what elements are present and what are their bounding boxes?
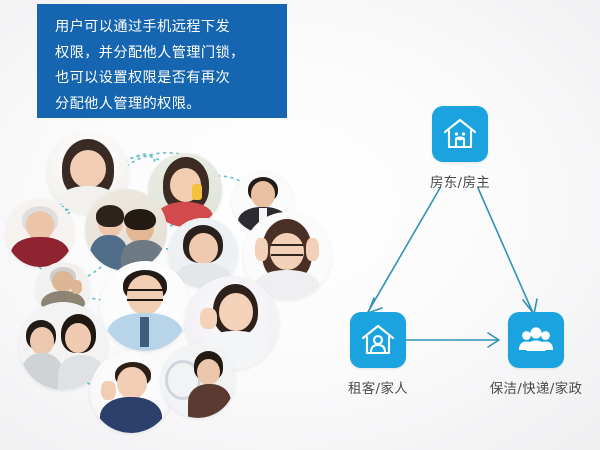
portrait-father-and-son: [85, 189, 167, 271]
social-network-collage: [0, 118, 330, 450]
house-person-icon: [358, 320, 398, 360]
landlord-tile[interactable]: [432, 106, 488, 162]
caption-box: 用户可以通过手机远程下发 权限，并分配他人管理门锁， 也可以设置权限是否有再次 …: [37, 4, 287, 118]
arrow-landlord-to-tenant-line: [368, 188, 440, 312]
tenant-tile[interactable]: [350, 312, 406, 368]
arrow-landlord-to-service-line: [478, 188, 533, 313]
infographic-canvas: 用户可以通过手机远程下发 权限，并分配他人管理门锁， 也可以设置权限是否有再次 …: [0, 0, 600, 450]
portrait-boy-thumbs-up: [90, 351, 172, 433]
service-label: 保洁/快递/家政: [478, 377, 594, 397]
house-smiley-icon: [440, 114, 480, 154]
people-group-icon: [516, 320, 556, 360]
portrait-boy-with-glasses: [100, 261, 190, 351]
caption-text: 用户可以通过手机远程下发 权限，并分配他人管理门锁， 也可以设置权限是否有再次 …: [55, 15, 273, 117]
landlord-label: 房东/房主: [402, 171, 518, 191]
portrait-tennis-woman: [161, 344, 235, 418]
permission-flow-diagram: 房东/房主 租客/家人: [318, 92, 600, 412]
service-tile[interactable]: [508, 312, 564, 368]
node-service[interactable]: 保洁/快递/家政: [478, 312, 594, 397]
tenant-label: 租客/家人: [320, 377, 436, 397]
node-tenant[interactable]: 租客/家人: [320, 312, 436, 397]
portrait-elderly-woman: [6, 199, 74, 267]
node-landlord[interactable]: 房东/房主: [402, 106, 518, 191]
